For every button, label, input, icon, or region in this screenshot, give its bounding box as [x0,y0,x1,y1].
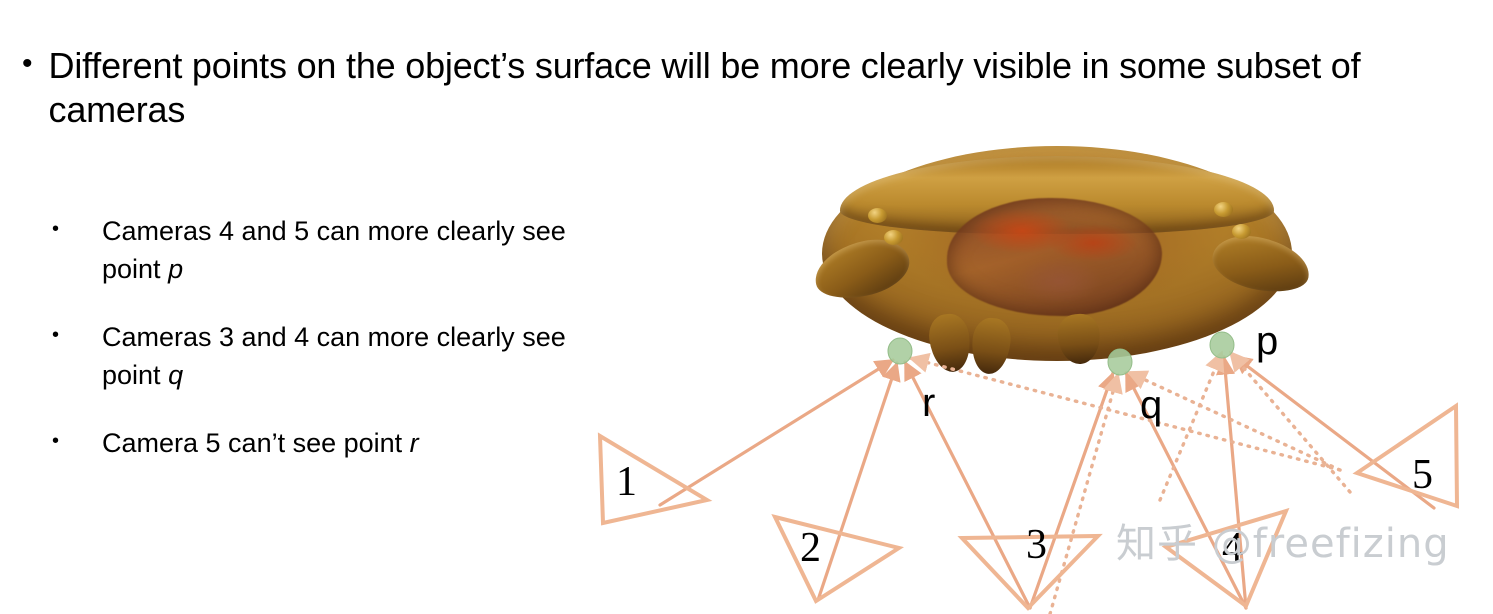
ray-cam1-to-r [660,360,893,505]
point-label-r: r [922,383,935,423]
ray-dotted-cam3-to-q-alt [1050,374,1118,614]
point-label-p: p [1256,321,1278,361]
camera-label-2: 2 [800,527,821,569]
object-image [822,146,1292,376]
list-item-text: Cameras 4 and 5 can more clearly see poi… [102,212,572,288]
list-item: • Cameras 4 and 5 can more clearly see p… [52,212,572,288]
list-bullet-glyph: • [52,318,102,352]
list-item: • Camera 5 can’t see point r [52,424,572,462]
object-center-relief [947,198,1162,316]
bullet-list: • Cameras 4 and 5 can more clearly see p… [52,212,572,492]
point-label-q: q [1140,385,1162,425]
list-item: • Cameras 3 and 4 can more clearly see p… [52,318,572,394]
camera-5-frustum[interactable] [1357,406,1457,506]
list-item-emphasis: p [168,254,183,284]
camera-2-frustum[interactable] [775,517,899,601]
list-item-text-main: Camera 5 can’t see point [102,428,410,458]
list-bullet-glyph: • [52,212,102,246]
title-bullet-glyph: • [22,44,49,84]
object-bead [868,208,887,223]
object-bead [1214,202,1233,217]
page-title: • Different points on the object’s surfa… [22,44,1442,132]
camera-label-1: 1 [616,461,637,503]
object-bead [1232,224,1251,239]
title-text: Different points on the object’s surface… [49,44,1434,132]
ray-cam3-to-q [1030,373,1113,608]
list-item-text: Cameras 3 and 4 can more clearly see poi… [102,318,572,394]
object-bead [884,230,903,245]
ray-cam2-to-r [818,363,897,600]
list-item-emphasis: r [410,428,419,458]
list-bullet-glyph: • [52,424,102,458]
camera-label-3: 3 [1026,524,1047,566]
camera-label-5: 5 [1412,454,1433,496]
list-item-emphasis: q [168,360,183,390]
watermark: 知乎 @freefizing [1116,521,1450,567]
list-item-text: Camera 5 can’t see point r [102,424,419,462]
ray-cam5-to-p [1234,356,1434,508]
slide-canvas: • Different points on the object’s surfa… [0,0,1493,614]
